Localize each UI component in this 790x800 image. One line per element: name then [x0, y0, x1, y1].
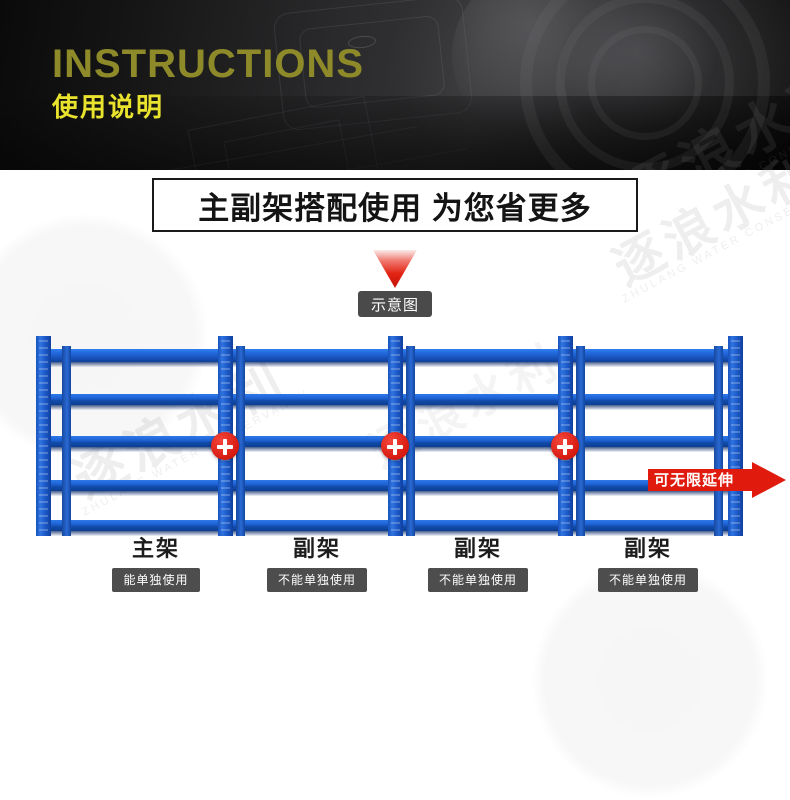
main-title-box: 主副架搭配使用 为您省更多 [152, 178, 638, 232]
rack-label: 副架 不能单独使用 [258, 538, 376, 592]
rack-post [728, 336, 743, 536]
rack-post [36, 336, 51, 536]
rack-label-name: 主架 [97, 538, 215, 560]
rack-label: 副架 不能单独使用 [589, 538, 707, 592]
background-ghost-circle [530, 560, 770, 800]
rack-label: 副架 不能单独使用 [419, 538, 537, 592]
diagram-tag-label: 示意图 [371, 294, 419, 315]
rack-label-badge: 不能单独使用 [598, 568, 698, 592]
rack-label-badge: 不能单独使用 [428, 568, 528, 592]
plus-icon [381, 432, 409, 460]
down-arrow-icon [373, 250, 417, 288]
rack-label-name: 副架 [589, 538, 707, 560]
rack-diagram [0, 336, 790, 546]
plus-icon [551, 432, 579, 460]
main-title-text: 主副架搭配使用 为您省更多 [198, 183, 592, 228]
header-title-cn: 使用说明 [52, 94, 164, 120]
rack-post-rear [62, 346, 71, 536]
diagram-tag: 示意图 [358, 291, 432, 317]
rack-label: 主架 能单独使用 [97, 538, 215, 592]
rack-label-badge: 能单独使用 [112, 568, 199, 592]
rack-post-rear [714, 346, 723, 536]
rack-label-badge: 不能单独使用 [267, 568, 367, 592]
header-title-en: INSTRUCTIONS [52, 44, 364, 84]
extend-label: 可无限延伸 [654, 469, 734, 490]
plus-icon [211, 432, 239, 460]
page-header-banner: 逐浪水利 ZHULANG WATER CONSERVANCY INSTRUCTI… [0, 0, 790, 170]
rack-label-name: 副架 [258, 538, 376, 560]
rack-label-name: 副架 [419, 538, 537, 560]
